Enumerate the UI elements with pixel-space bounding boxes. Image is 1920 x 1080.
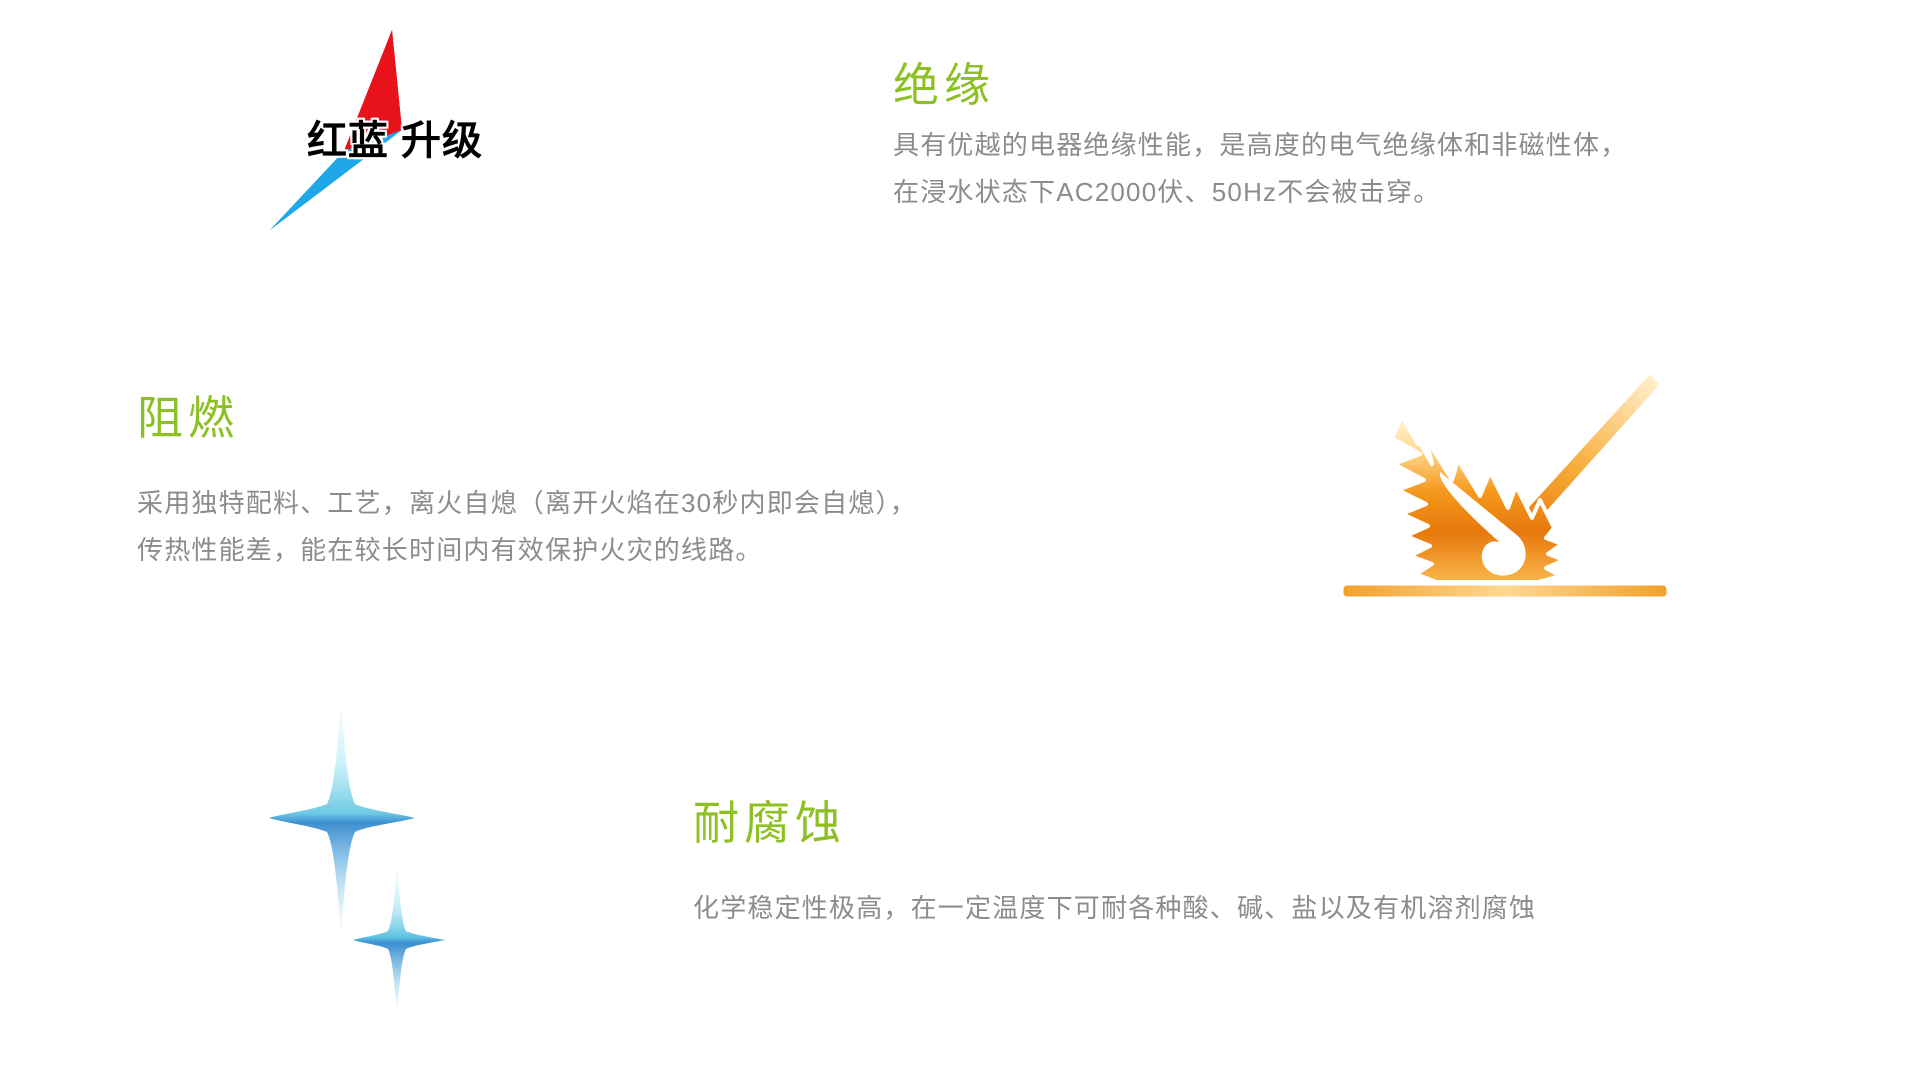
body-line: 具有优越的电器绝缘性能，是高度的电气绝缘体和非磁性体， <box>893 122 1627 169</box>
section-body-flame-retardant: 采用独特配料、工艺，离火自熄（离开火焰在30秒内即会自熄）， 传热性能差，能在较… <box>137 480 917 574</box>
section-title-flame-retardant: 阻燃 <box>137 393 239 444</box>
brand-logo: 红蓝 升级 <box>250 20 540 280</box>
section-body-insulation: 具有优越的电器绝缘性能，是高度的电气绝缘体和非磁性体， 在浸水状态下AC2000… <box>893 122 1627 216</box>
body-line: 在浸水状态下AC2000伏、50Hz不会被击穿。 <box>893 169 1627 216</box>
flame-resistance-icon <box>1340 368 1670 613</box>
section-title-insulation: 绝缘 <box>893 60 995 111</box>
section-title-corrosion-resistant: 耐腐蚀 <box>693 798 846 849</box>
section-body-corrosion-resistant: 化学稳定性极高，在一定温度下可耐各种酸、碱、盐以及有机溶剂腐蚀 <box>693 885 1536 932</box>
slide-canvas: 红蓝 升级 绝缘 具有优越的电器绝缘性能，是高度的电气绝缘体和非磁性体， 在浸水… <box>0 0 1920 1080</box>
body-line: 化学稳定性极高，在一定温度下可耐各种酸、碱、盐以及有机溶剂腐蚀 <box>693 885 1536 932</box>
sparkle-stars-icon <box>245 690 535 1030</box>
body-line: 采用独特配料、工艺，离火自熄（离开火焰在30秒内即会自熄）， <box>137 480 917 527</box>
logo-wordmark: 红蓝 升级 <box>260 108 530 166</box>
body-line: 传热性能差，能在较长时间内有效保护火灾的线路。 <box>137 527 917 574</box>
